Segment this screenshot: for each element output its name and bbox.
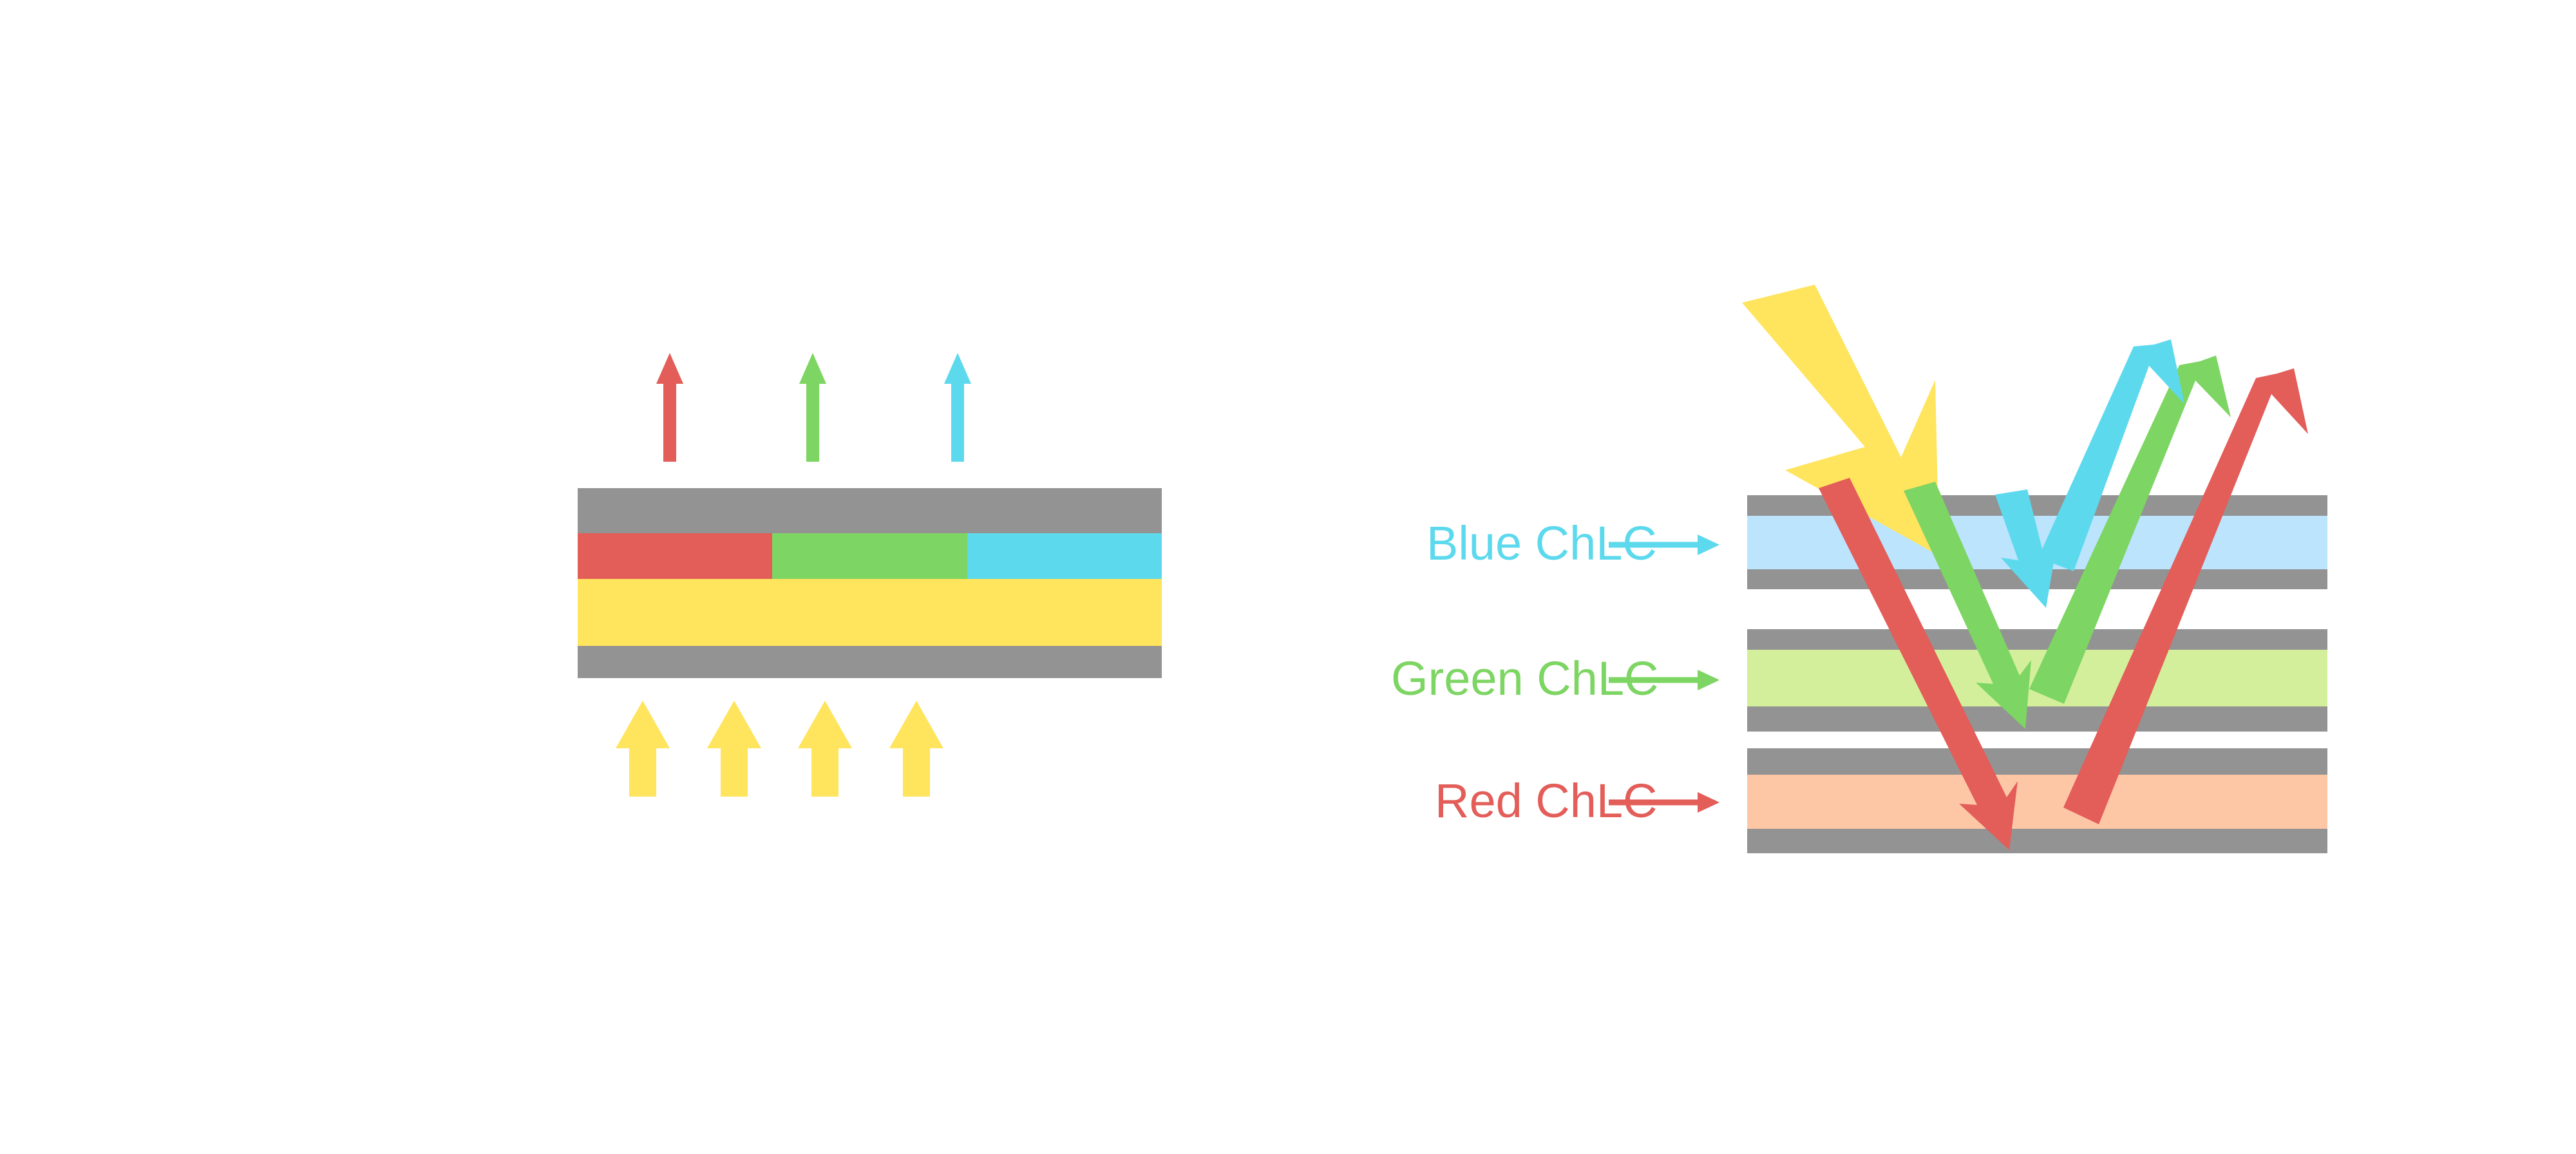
red-cell-bottom-electrode xyxy=(1747,829,2327,853)
left-top-electrode xyxy=(578,488,1162,533)
red-chlc-label-group: Red ChLC xyxy=(1435,774,1719,828)
blue-color-segment xyxy=(967,533,1162,579)
red-chlc-layer xyxy=(1747,775,2327,829)
backlight-layer xyxy=(578,579,1162,646)
red-color-segment xyxy=(578,533,772,579)
diagram-canvas: Blue ChLC Green ChLC Red ChLC xyxy=(0,0,2576,1154)
left-bottom-electrode xyxy=(578,646,1162,678)
backlight-arrow-3 xyxy=(798,701,852,797)
green-color-segment xyxy=(772,533,967,579)
green-cell-top-electrode xyxy=(1747,629,2327,650)
backlight-arrow-2 xyxy=(707,701,761,797)
red-emission-arrow xyxy=(656,353,683,462)
left-cell-stack xyxy=(578,488,1162,678)
green-chlc-label-group: Green ChLC xyxy=(1391,652,1719,705)
right-diagram-group: Blue ChLC Green ChLC Red ChLC xyxy=(1391,285,2327,853)
red-chlc-cell xyxy=(1747,748,2327,853)
green-emission-arrow xyxy=(799,353,826,462)
backlight-arrow-1 xyxy=(616,701,670,797)
green-cell-bottom-electrode xyxy=(1747,706,2327,732)
left-diagram-group xyxy=(578,353,1162,797)
emitted-light-arrows xyxy=(656,353,971,462)
blue-chlc-label-group: Blue ChLC xyxy=(1426,516,1719,570)
chlc-display-diagram: Blue ChLC Green ChLC Red ChLC xyxy=(0,0,2576,1154)
blue-emission-arrow xyxy=(944,353,971,462)
red-cell-top-electrode xyxy=(1747,748,2327,775)
backlight-arrow-4 xyxy=(889,701,943,797)
backlight-arrows xyxy=(616,701,943,797)
